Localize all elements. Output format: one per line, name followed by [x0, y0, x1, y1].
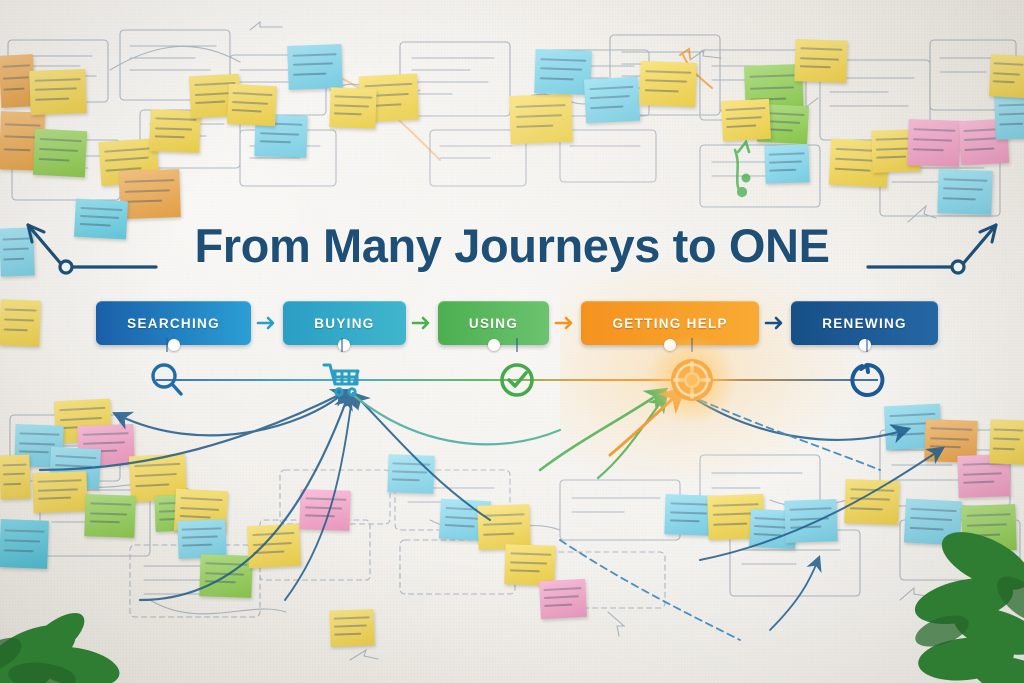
journey-stage-label: RENEWING [822, 316, 907, 331]
sticky-note [247, 524, 301, 569]
sticky-note [539, 579, 587, 619]
sticky-note [477, 504, 531, 550]
sticky-note [721, 99, 771, 141]
sticky-note [904, 499, 962, 546]
sticky-note [177, 519, 226, 559]
stage-node-dot [859, 339, 871, 351]
chevron-right-arrow-icon [251, 301, 283, 345]
sticky-note [504, 544, 555, 586]
sticky-note [584, 77, 640, 124]
journey-stage-label: SEARCHING [127, 316, 220, 331]
stage-node-dot [488, 339, 500, 351]
sticky-note [989, 54, 1024, 98]
sticky-note [534, 49, 592, 95]
sticky-note [907, 119, 961, 167]
journey-icon-row [96, 352, 938, 408]
sticky-note [227, 84, 277, 126]
sticky-note [961, 504, 1017, 552]
sticky-note [387, 454, 434, 494]
pointer-arrow-up-left-icon [10, 195, 160, 300]
sticky-note [764, 144, 809, 184]
journey-stage-buying[interactable]: BUYING [283, 301, 406, 345]
journey-stage-label: BUYING [314, 316, 374, 331]
icon-stem [866, 338, 868, 352]
sticky-note [0, 454, 31, 499]
sticky-note [994, 94, 1024, 139]
sticky-note [33, 129, 87, 178]
check-circle-icon[interactable] [489, 352, 545, 408]
sticky-note [329, 87, 376, 129]
journey-stage-renewing[interactable]: RENEWING [791, 301, 938, 345]
sticky-note [844, 479, 900, 525]
icon-stem [341, 338, 343, 352]
sticky-note [329, 609, 374, 647]
sticky-note [0, 299, 41, 346]
sticky-note [989, 419, 1024, 464]
sticky-note [784, 499, 837, 543]
sticky-note [287, 44, 343, 90]
journey-stage-searching[interactable]: SEARCHING [96, 301, 251, 345]
chevron-right-arrow-icon [406, 301, 438, 345]
shopping-cart-icon[interactable] [314, 352, 370, 408]
stage-node-dot [664, 339, 676, 351]
journey-stage-label: GETTING HELP [613, 316, 728, 331]
journey-stage-label: USING [469, 316, 518, 331]
sticky-note [299, 489, 350, 531]
sticky-note [84, 494, 135, 538]
renew-circle-icon[interactable] [839, 352, 895, 408]
icon-stem [166, 338, 168, 352]
sticky-note [639, 61, 697, 107]
icon-stem [691, 338, 693, 352]
whiteboard-canvas: From Many Journeys to ONE SEARCHINGBUYIN… [0, 0, 1024, 683]
sticky-note [29, 69, 87, 115]
icon-stem [516, 338, 518, 352]
sticky-note [32, 471, 87, 513]
chevron-right-arrow-icon [549, 301, 581, 345]
stage-node-dot [338, 339, 350, 351]
magnifier-icon[interactable] [139, 352, 195, 408]
journey-stage-getting-help[interactable]: GETTING HELP [581, 301, 759, 345]
sticky-note [794, 39, 847, 83]
stage-node-dot [168, 339, 180, 351]
sticky-note [0, 519, 49, 569]
chevron-right-arrow-icon [759, 301, 791, 345]
lifebuoy-icon[interactable] [664, 352, 720, 408]
journey-stage-using[interactable]: USING [438, 301, 550, 345]
sticky-note [509, 94, 573, 144]
pointer-arrow-up-right-icon [864, 195, 1014, 300]
sticky-note [199, 554, 252, 598]
